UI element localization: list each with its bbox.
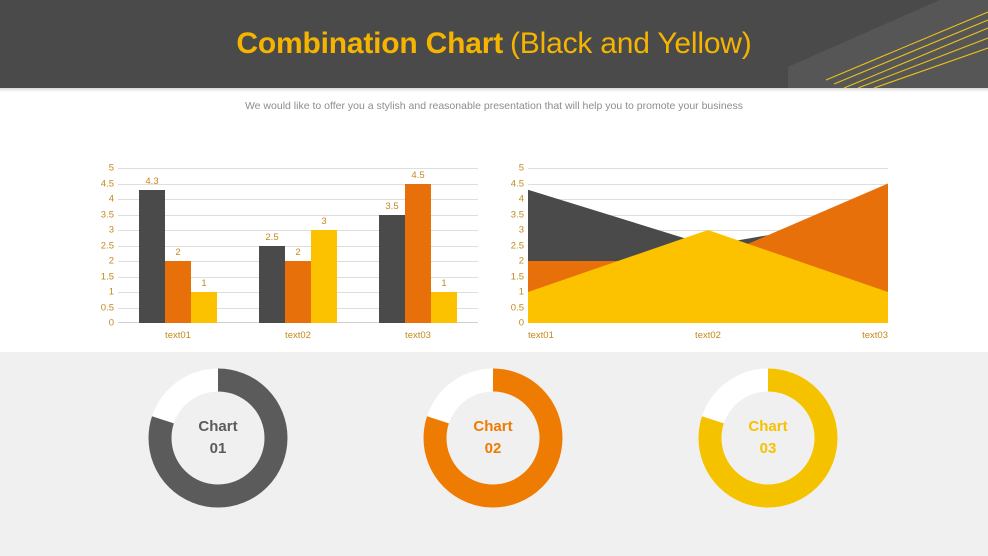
bar[interactable] bbox=[139, 190, 165, 323]
y-axis-tick-label: 0.5 bbox=[511, 302, 524, 313]
charts-row: 00.511.522.533.544.55 4.3212.5233.54.51 … bbox=[0, 160, 988, 352]
y-axis-tick-label: 3.5 bbox=[101, 209, 114, 220]
donut-chart-03[interactable]: Chart03 bbox=[698, 368, 838, 508]
bar-value-label: 2 bbox=[295, 247, 300, 258]
bar-group: 4.321 bbox=[118, 168, 238, 323]
bar[interactable] bbox=[191, 292, 217, 323]
y-axis-tick-label: 0.5 bbox=[101, 302, 114, 313]
bar[interactable] bbox=[165, 261, 191, 323]
bar[interactable] bbox=[285, 261, 311, 323]
x-axis-category-label: text03 bbox=[405, 330, 431, 341]
bar-chart-y-axis: 00.511.522.533.544.55 bbox=[88, 168, 114, 323]
y-axis-tick-label: 0 bbox=[519, 318, 524, 329]
slide-header: Combination Chart (Black and Yellow) bbox=[0, 0, 988, 88]
slide: Combination Chart (Black and Yellow) We … bbox=[0, 0, 988, 556]
x-axis-category-label: text01 bbox=[165, 330, 191, 341]
area-chart-x-axis: text01text02text03 bbox=[528, 330, 888, 346]
bar[interactable] bbox=[379, 215, 405, 324]
bar-group: 3.54.51 bbox=[358, 168, 478, 323]
x-axis-category-label: text03 bbox=[862, 330, 888, 341]
bar-value-label: 1 bbox=[441, 278, 446, 289]
y-axis-tick-label: 2.5 bbox=[101, 240, 114, 251]
x-axis-category-label: text01 bbox=[528, 330, 554, 341]
y-axis-tick-label: 0 bbox=[109, 318, 114, 329]
page-title-light: (Black and Yellow) bbox=[510, 27, 752, 61]
area-chart-y-axis: 00.511.522.533.544.55 bbox=[498, 168, 524, 323]
page-title-bold: Combination Chart bbox=[236, 27, 503, 61]
bar[interactable] bbox=[311, 230, 337, 323]
y-axis-tick-label: 2.5 bbox=[511, 240, 524, 251]
bar-value-label: 3.5 bbox=[385, 201, 398, 212]
y-axis-tick-label: 3.5 bbox=[511, 209, 524, 220]
bar-value-label: 4.5 bbox=[411, 170, 424, 181]
y-axis-tick-label: 1 bbox=[519, 287, 524, 298]
donut-chart-01[interactable]: Chart01 bbox=[148, 368, 288, 508]
y-axis-tick-label: 3 bbox=[109, 225, 114, 236]
y-axis-tick-label: 1.5 bbox=[511, 271, 524, 282]
bar-value-label: 1 bbox=[201, 278, 206, 289]
page-title: Combination Chart (Black and Yellow) bbox=[0, 0, 988, 88]
subtitle-text: We would like to offer you a stylish and… bbox=[0, 100, 988, 112]
bar-value-label: 2 bbox=[175, 247, 180, 258]
y-axis-tick-label: 4.5 bbox=[101, 178, 114, 189]
header-shadow bbox=[0, 88, 988, 92]
bar-value-label: 3 bbox=[321, 216, 326, 227]
bar-chart-x-axis: text01text02text03 bbox=[118, 330, 478, 346]
bar-group: 2.523 bbox=[238, 168, 358, 323]
y-axis-tick-label: 5 bbox=[519, 163, 524, 174]
y-axis-tick-label: 3 bbox=[519, 225, 524, 236]
donut-charts-section: Chart01 Chart02 Chart03 bbox=[0, 352, 988, 556]
x-axis-category-label: text02 bbox=[695, 330, 721, 341]
donut-chart-02[interactable]: Chart02 bbox=[423, 368, 563, 508]
y-axis-tick-label: 4.5 bbox=[511, 178, 524, 189]
area-chart-series-group bbox=[528, 168, 888, 323]
bar-chart-plot-area: 4.3212.5233.54.51 bbox=[118, 168, 478, 323]
y-axis-tick-label: 1.5 bbox=[101, 271, 114, 282]
x-axis-category-label: text02 bbox=[285, 330, 311, 341]
y-axis-tick-label: 4 bbox=[519, 194, 524, 205]
bar[interactable] bbox=[431, 292, 457, 323]
area-chart-plot-area bbox=[528, 168, 888, 323]
bar-value-label: 4.3 bbox=[145, 176, 158, 187]
bar-chart: 00.511.522.533.544.55 4.3212.5233.54.51 … bbox=[88, 160, 478, 352]
y-axis-tick-label: 4 bbox=[109, 194, 114, 205]
bar[interactable] bbox=[259, 246, 285, 324]
y-axis-tick-label: 2 bbox=[109, 256, 114, 267]
bar[interactable] bbox=[405, 184, 431, 324]
area-chart: 00.511.522.533.544.55 text01text02text03 bbox=[498, 160, 888, 352]
y-axis-tick-label: 5 bbox=[109, 163, 114, 174]
bar-value-label: 2.5 bbox=[265, 232, 278, 243]
y-axis-tick-label: 1 bbox=[109, 287, 114, 298]
y-axis-tick-label: 2 bbox=[519, 256, 524, 267]
